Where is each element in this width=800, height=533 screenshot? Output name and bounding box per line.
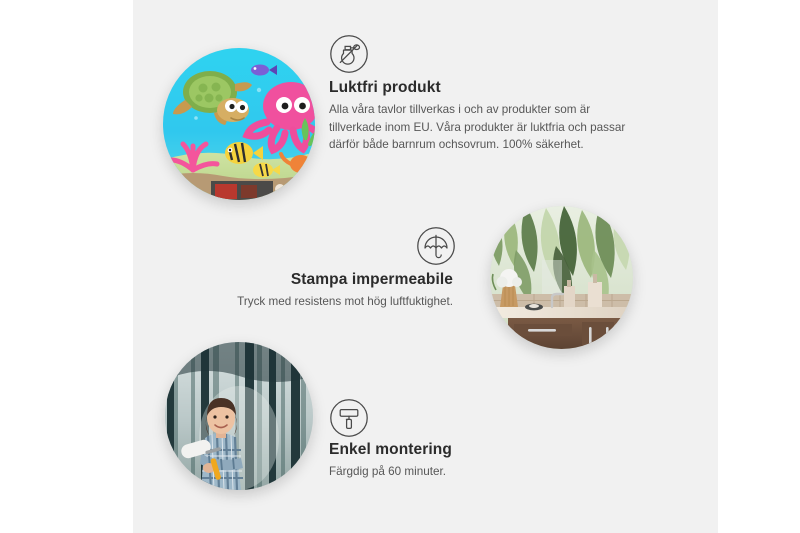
feature-text-easyhang: Enkel montering Färgdig på 60 minuter. (329, 440, 629, 481)
feature-body: Alla våra tavlor tillverkas i och av pro… (329, 101, 629, 154)
feature-block-easyhang: Enkel montering Färgdig på 60 minuter. (133, 332, 718, 532)
no-fragrance-icon (329, 34, 369, 74)
infographic-canvas: Luktfri produkt Alla våra tavlor tillver… (133, 0, 718, 533)
umbrella-icon (416, 226, 456, 266)
feature-headline: Luktfri produkt (329, 78, 629, 97)
feature-block-odourless: Luktfri produkt Alla våra tavlor tillver… (133, 0, 718, 210)
feature-body: Tryck med resistens mot hög luftfuktighe… (168, 293, 453, 311)
paint-roller-icon (329, 398, 369, 438)
photo-bathroom-vanity-leaf-wallpaper (490, 206, 633, 349)
photo-woman-paint-roller-forest (165, 342, 313, 490)
feature-text-waterproof: Stampa impermeabile Tryck med resistens … (168, 270, 453, 311)
feature-body: Färgdig på 60 minuter. (329, 463, 629, 481)
feature-headline: Enkel montering (329, 440, 629, 459)
feature-text-odourless: Luktfri produkt Alla våra tavlor tillver… (329, 78, 629, 154)
feature-headline: Stampa impermeabile (168, 270, 453, 289)
infographic-page: Luktfri produkt Alla våra tavlor tillver… (0, 0, 800, 533)
photo-underwater-cartoon-sea-life (163, 48, 315, 200)
